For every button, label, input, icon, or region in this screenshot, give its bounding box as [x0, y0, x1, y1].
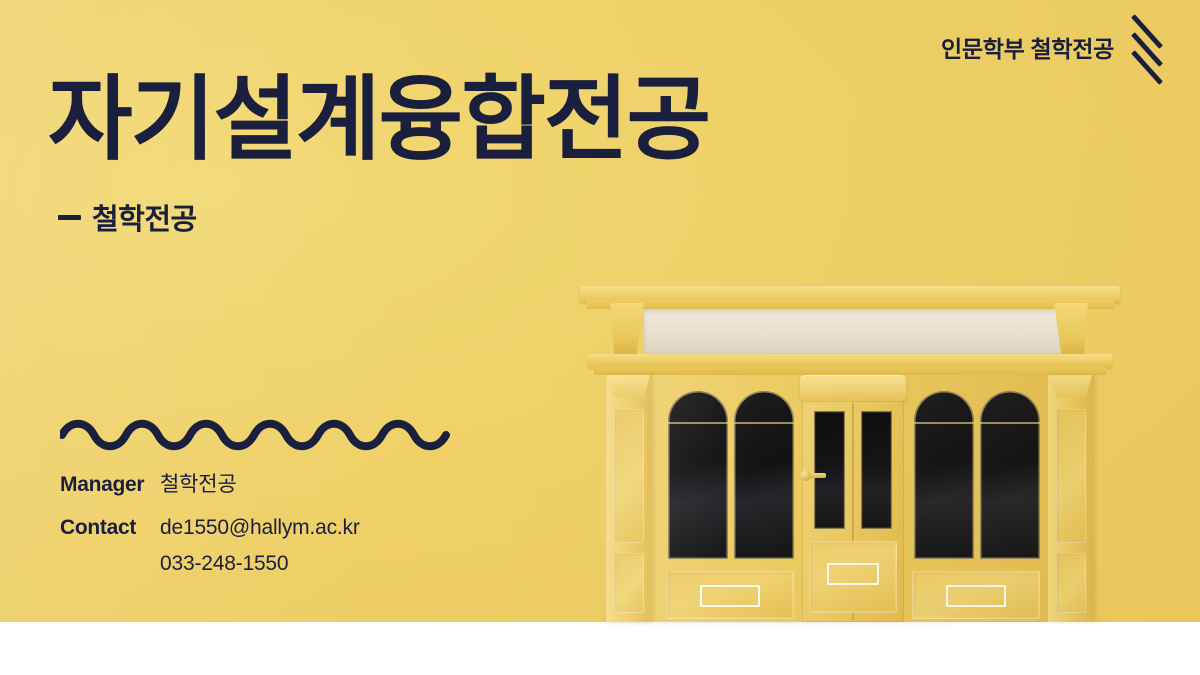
arched-window-2 [734, 391, 794, 559]
pilaster-left-capital [608, 375, 650, 397]
contact-row-contact: Contact de1550@hallym.ac.kr 033-248-1550 [60, 516, 360, 576]
corbel-left [610, 303, 644, 355]
manager-value: 철학전공 [160, 468, 236, 498]
floor-surface [0, 622, 1200, 675]
window-bay-left [660, 375, 800, 622]
cornice-top-lip [586, 300, 1114, 309]
pilaster-right-panel-lower [1056, 553, 1086, 613]
cornice-second [588, 354, 1112, 367]
contact-email[interactable]: de1550@hallym.ac.kr [160, 516, 360, 540]
subtitle-label: 철학전공 [92, 196, 197, 238]
page-subtitle: 철학전공 [58, 196, 197, 238]
poster-canvas: 인문학부 철학전공 자기설계융합전공 철학전공 Manager 철학전공 Con… [0, 0, 1200, 675]
contact-values: de1550@hallym.ac.kr 033-248-1550 [160, 516, 360, 576]
pilaster-left-panel-lower [614, 553, 644, 613]
apron-plate-left [700, 585, 760, 607]
pilaster-left-panel-upper [614, 409, 644, 543]
diagonal-stripes-icon [1124, 16, 1170, 84]
dash-icon [58, 215, 81, 220]
pilaster-right [1048, 375, 1094, 622]
entrance-double-door[interactable] [802, 401, 904, 622]
arched-window-1 [668, 391, 728, 559]
arched-window-4 [980, 391, 1040, 559]
pilaster-right-panel-upper [1056, 409, 1086, 543]
cornice-second-lip [594, 367, 1106, 375]
stripe-2 [1131, 32, 1163, 67]
header-department-line: 인문학부 철학전공 [941, 30, 1114, 64]
contact-label: Contact [60, 516, 160, 540]
contact-block: Manager 철학전공 Contact de1550@hallym.ac.kr… [60, 468, 360, 576]
door-plate [827, 563, 879, 585]
window-gloss-2 [734, 391, 794, 559]
door-glass-right [861, 411, 892, 529]
entrance-door-assembly [800, 375, 906, 622]
window-apron-right [912, 571, 1040, 619]
window-gloss-4 [980, 391, 1040, 559]
arched-window-3 [914, 391, 974, 559]
window-gloss-1 [668, 391, 728, 559]
window-bay-right [906, 375, 1046, 622]
contact-phone[interactable]: 033-248-1550 [160, 552, 360, 576]
signboard-inner-shadow [644, 309, 1062, 353]
door-lower-panel [809, 541, 897, 613]
door-header-sign [800, 375, 906, 401]
department-label: 인문학부 철학전공 [941, 30, 1114, 64]
signboard-band [644, 309, 1062, 353]
yellow-storefront-illustration [566, 272, 1132, 622]
window-apron-left [666, 571, 794, 619]
page-title: 자기설계융합전공 [48, 72, 709, 169]
wavy-line-divider [60, 418, 452, 452]
stripe-3 [1131, 50, 1163, 85]
apron-plate-right [946, 585, 1006, 607]
contact-row-manager: Manager 철학전공 [60, 468, 360, 498]
stripe-1 [1131, 14, 1163, 49]
door-handle-icon[interactable] [804, 473, 826, 478]
window-gloss-3 [914, 391, 974, 559]
pilaster-right-capital [1050, 375, 1092, 397]
pilaster-left [606, 375, 652, 622]
door-glass-left [814, 411, 845, 529]
manager-label: Manager [60, 473, 160, 497]
